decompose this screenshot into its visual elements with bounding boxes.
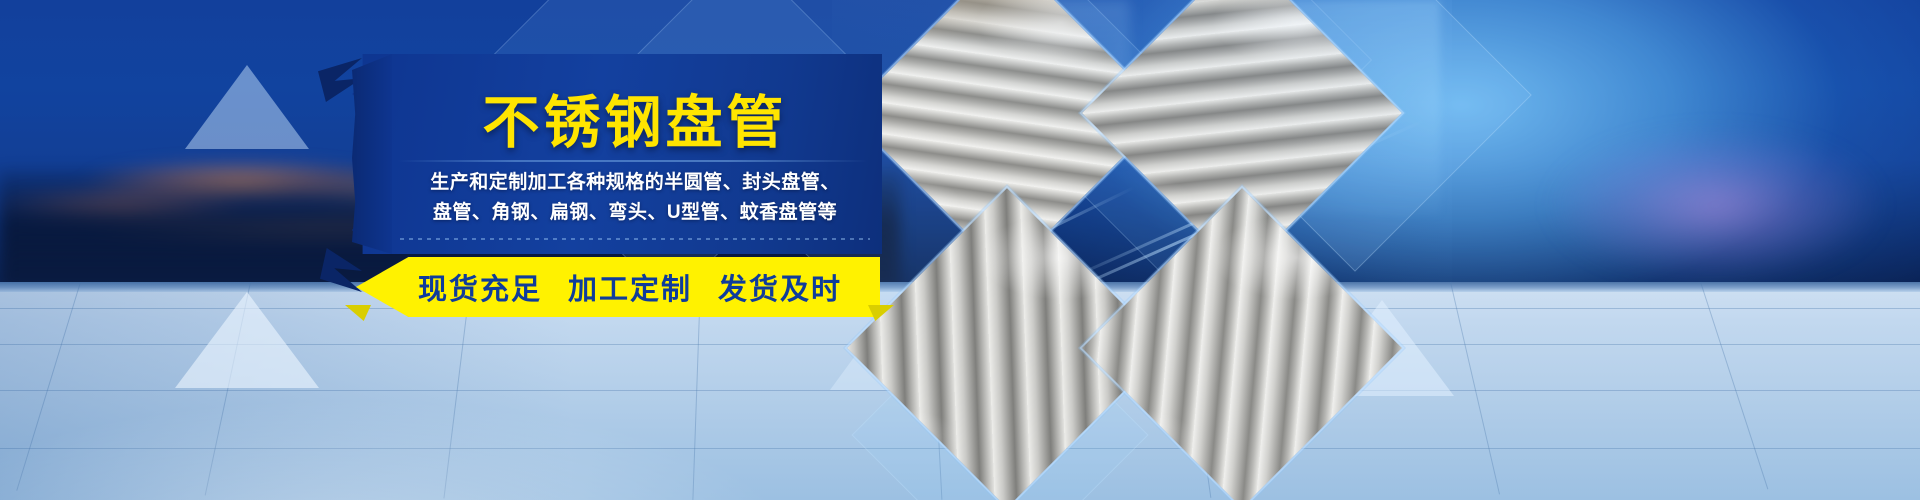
decor-triangle-1 xyxy=(185,65,309,149)
photo-highlight-4 xyxy=(1079,185,1404,500)
page-title: 不锈钢盘管 xyxy=(400,92,870,154)
slogan-text: 现货充足 加工定制 发货及时 xyxy=(380,257,880,317)
background-purple-glow xyxy=(1540,110,1920,300)
headline-dotted-divider xyxy=(400,238,870,240)
hero-banner: 不锈钢盘管 生产和定制加工各种规格的半圆管、封头盘管、 盘管、角钢、扁钢、弯头、… xyxy=(0,0,1920,500)
subtitle-line-1: 生产和定制加工各种规格的半圆管、封头盘管、 xyxy=(385,168,885,198)
diamond-photo-bottom-right xyxy=(1079,185,1404,500)
banner-subtitle: 生产和定制加工各种规格的半圆管、封头盘管、 盘管、角钢、扁钢、弯头、U型管、蚊香… xyxy=(385,168,885,228)
slogan-item-1: 加工定制 xyxy=(568,266,692,308)
slogan-item-2: 发货及时 xyxy=(718,266,842,308)
product-photo-collage xyxy=(832,0,1452,500)
stainless-coil-image-4 xyxy=(1079,185,1404,500)
decor-triangle-2 xyxy=(175,292,319,388)
slogan-item-0: 现货充足 xyxy=(418,266,542,308)
subtitle-line-2: 盘管、角钢、扁钢、弯头、U型管、蚊香盘管等 xyxy=(385,198,885,228)
headline-divider xyxy=(398,160,868,162)
